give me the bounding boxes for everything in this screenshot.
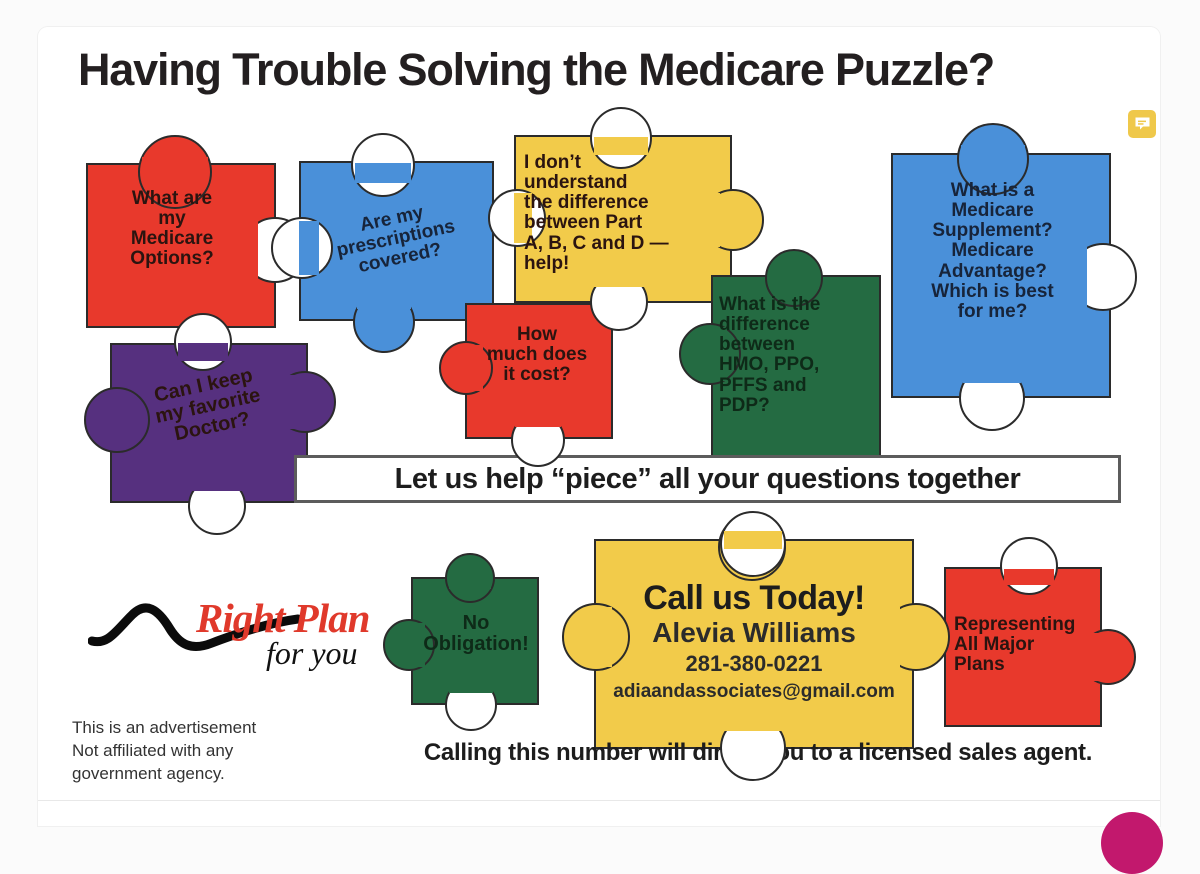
contact-email[interactable]: adiaandassociates@gmail.com (588, 681, 920, 703)
contact-phone[interactable]: 281-380-0221 (598, 651, 910, 677)
chat-widget-button[interactable] (1128, 110, 1156, 138)
page-title: Having Trouble Solving the Medicare Puzz… (78, 44, 1138, 96)
logo-brand-bottom: for you (266, 635, 358, 672)
puzzle-piece-supplement-advantage: What is a Medicare Supplement? Medicare … (883, 125, 1133, 410)
medicare-advertisement: Having Trouble Solving the Medicare Puzz… (38, 27, 1160, 800)
tagline-banner: Let us help “piece” all your questions t… (294, 455, 1121, 503)
tagline-text: Let us help “piece” all your questions t… (395, 463, 1021, 496)
puzzle-piece-representing-plans: Representing All Major Plans (938, 567, 1128, 747)
card-divider (38, 800, 1160, 801)
right-plan-logo: Right Plan for you (88, 587, 408, 677)
puzzle-piece-hmo-ppo: What is the difference between HMO, PPO,… (673, 247, 888, 477)
puzzle-piece-text: What is a Medicare Supplement? Medicare … (895, 181, 1090, 322)
puzzle-piece-text: Representing All Major Plans (954, 615, 1104, 675)
puzzle-piece-text: No Obligation! (393, 613, 559, 655)
ad-card: Having Trouble Solving the Medicare Puzz… (38, 27, 1160, 826)
puzzle-piece-no-obligation: No Obligation! (383, 557, 563, 737)
puzzle-piece-favorite-doctor: Can I keep my favorite Doctor? (78, 327, 328, 527)
chat-bubble-icon (1134, 116, 1151, 132)
puzzle-piece-medicare-options: What are my Medicare Options? (86, 135, 276, 330)
advertisement-disclaimer: This is an advertisement Not affiliated … (72, 717, 392, 786)
puzzle-piece-text: What is the difference between HMO, PPO,… (719, 295, 877, 416)
contact-puzzle-piece: Call us Today! Alevia Williams 281-380-0… (568, 517, 938, 767)
contact-agent-name: Alevia Williams (598, 617, 910, 649)
floating-action-button[interactable] (1101, 812, 1163, 874)
puzzle-piece-text: What are my Medicare Options? (92, 189, 252, 270)
puzzle-piece-text: How much does it cost? (457, 325, 617, 385)
contact-call-to-action: Call us Today! (598, 579, 910, 618)
puzzle-piece-text: I don’t understand the difference betwee… (524, 153, 729, 274)
